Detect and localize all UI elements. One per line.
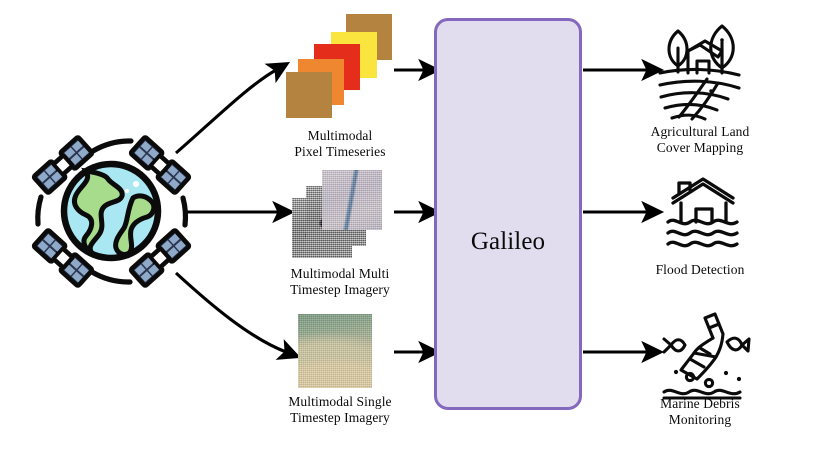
galileo-model-box[interactable] — [434, 18, 582, 410]
multi-timestep-imagery-caption: Multimodal Multi Timestep Imagery — [262, 266, 418, 298]
agricultural-land-cover-mapping-caption: Agricultural Land Cover Mapping — [622, 124, 778, 156]
farm-field-icon — [660, 26, 739, 119]
single-timestep-imagery-caption: Multimodal Single Timestep Imagery — [262, 394, 418, 426]
marine-debris-monitoring-caption: Marine Debris Monitoring — [622, 396, 778, 428]
bottle-in-water-icon — [664, 314, 749, 398]
pixel-square — [286, 72, 332, 118]
flooded-house-icon — [668, 179, 737, 246]
pixel-timeseries-caption: Multimodal Pixel Timeseries — [270, 128, 410, 160]
galileo-model-label: Galileo — [434, 228, 582, 256]
imagery-tile-optical — [322, 170, 382, 230]
pixel-timeseries-icon — [286, 14, 392, 120]
single-timestep-imagery-icon — [298, 314, 372, 388]
flood-detection-caption: Flood Detection — [622, 262, 778, 278]
diagram-canvas: Multimodal Pixel Timeseries Multimodal M… — [0, 0, 840, 473]
multi-timestep-imagery-icon — [292, 170, 384, 258]
arrow-globe-to-pixel-timeseries — [176, 70, 276, 153]
earth-satellites-icon — [33, 137, 189, 286]
